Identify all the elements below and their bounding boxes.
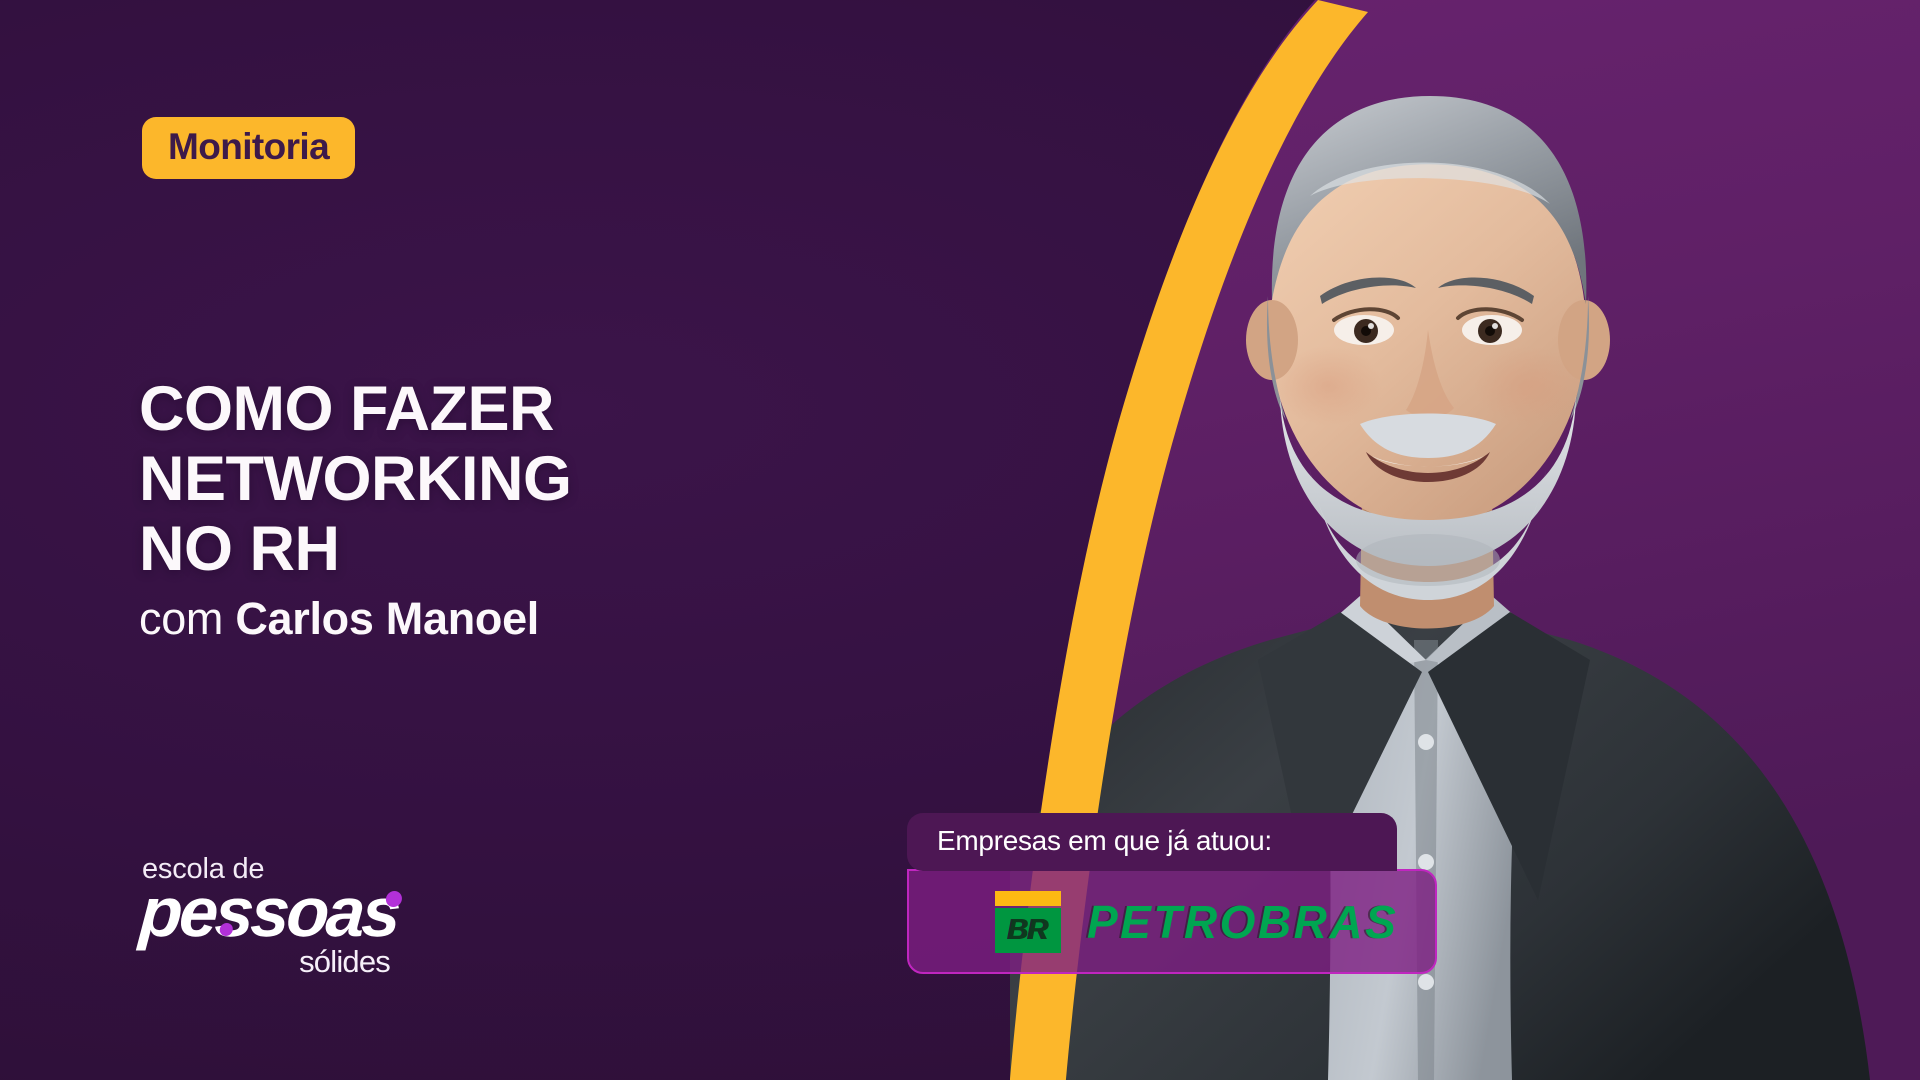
brand-logo: escola de pessoas sólides xyxy=(140,855,440,977)
brand-dot-right-icon xyxy=(385,891,402,907)
badge-label: Monitoria xyxy=(168,128,329,165)
petrobras-br-mark-icon: BR xyxy=(995,891,1061,953)
promo-banner: Monitoria COMO FAZER NETWORKING NO RH co… xyxy=(0,0,1920,1080)
brand-logo-main-text: pessoas xyxy=(137,873,400,951)
headline-line-2: NETWORKING xyxy=(139,444,571,514)
petrobras-br-text: BR xyxy=(1008,916,1048,945)
petrobras-yellow-bar xyxy=(995,891,1061,906)
companies-logo-card: BR PETROBRAS xyxy=(907,869,1437,974)
speaker-prefix: com xyxy=(139,593,235,644)
petrobras-green-square: BR xyxy=(995,908,1061,953)
companies-block: Empresas em que já atuou: BR PETROBRAS xyxy=(907,813,1437,974)
headline-line-3: NO RH xyxy=(139,514,571,584)
headline-line-1: COMO FAZER xyxy=(139,374,571,444)
petrobras-wordmark: PETROBRAS xyxy=(1087,899,1398,945)
petrobras-logo: BR PETROBRAS xyxy=(995,891,1398,953)
companies-label: Empresas em que já atuou: xyxy=(907,813,1397,871)
headline-block: COMO FAZER NETWORKING NO RH com Carlos M… xyxy=(139,374,571,643)
speaker-line: com Carlos Manoel xyxy=(139,594,571,644)
monitoria-badge: Monitoria xyxy=(142,117,355,179)
brand-logo-main: pessoas xyxy=(138,880,400,944)
brand-logo-sub: sólides xyxy=(140,946,390,977)
speaker-name: Carlos Manoel xyxy=(235,593,539,644)
